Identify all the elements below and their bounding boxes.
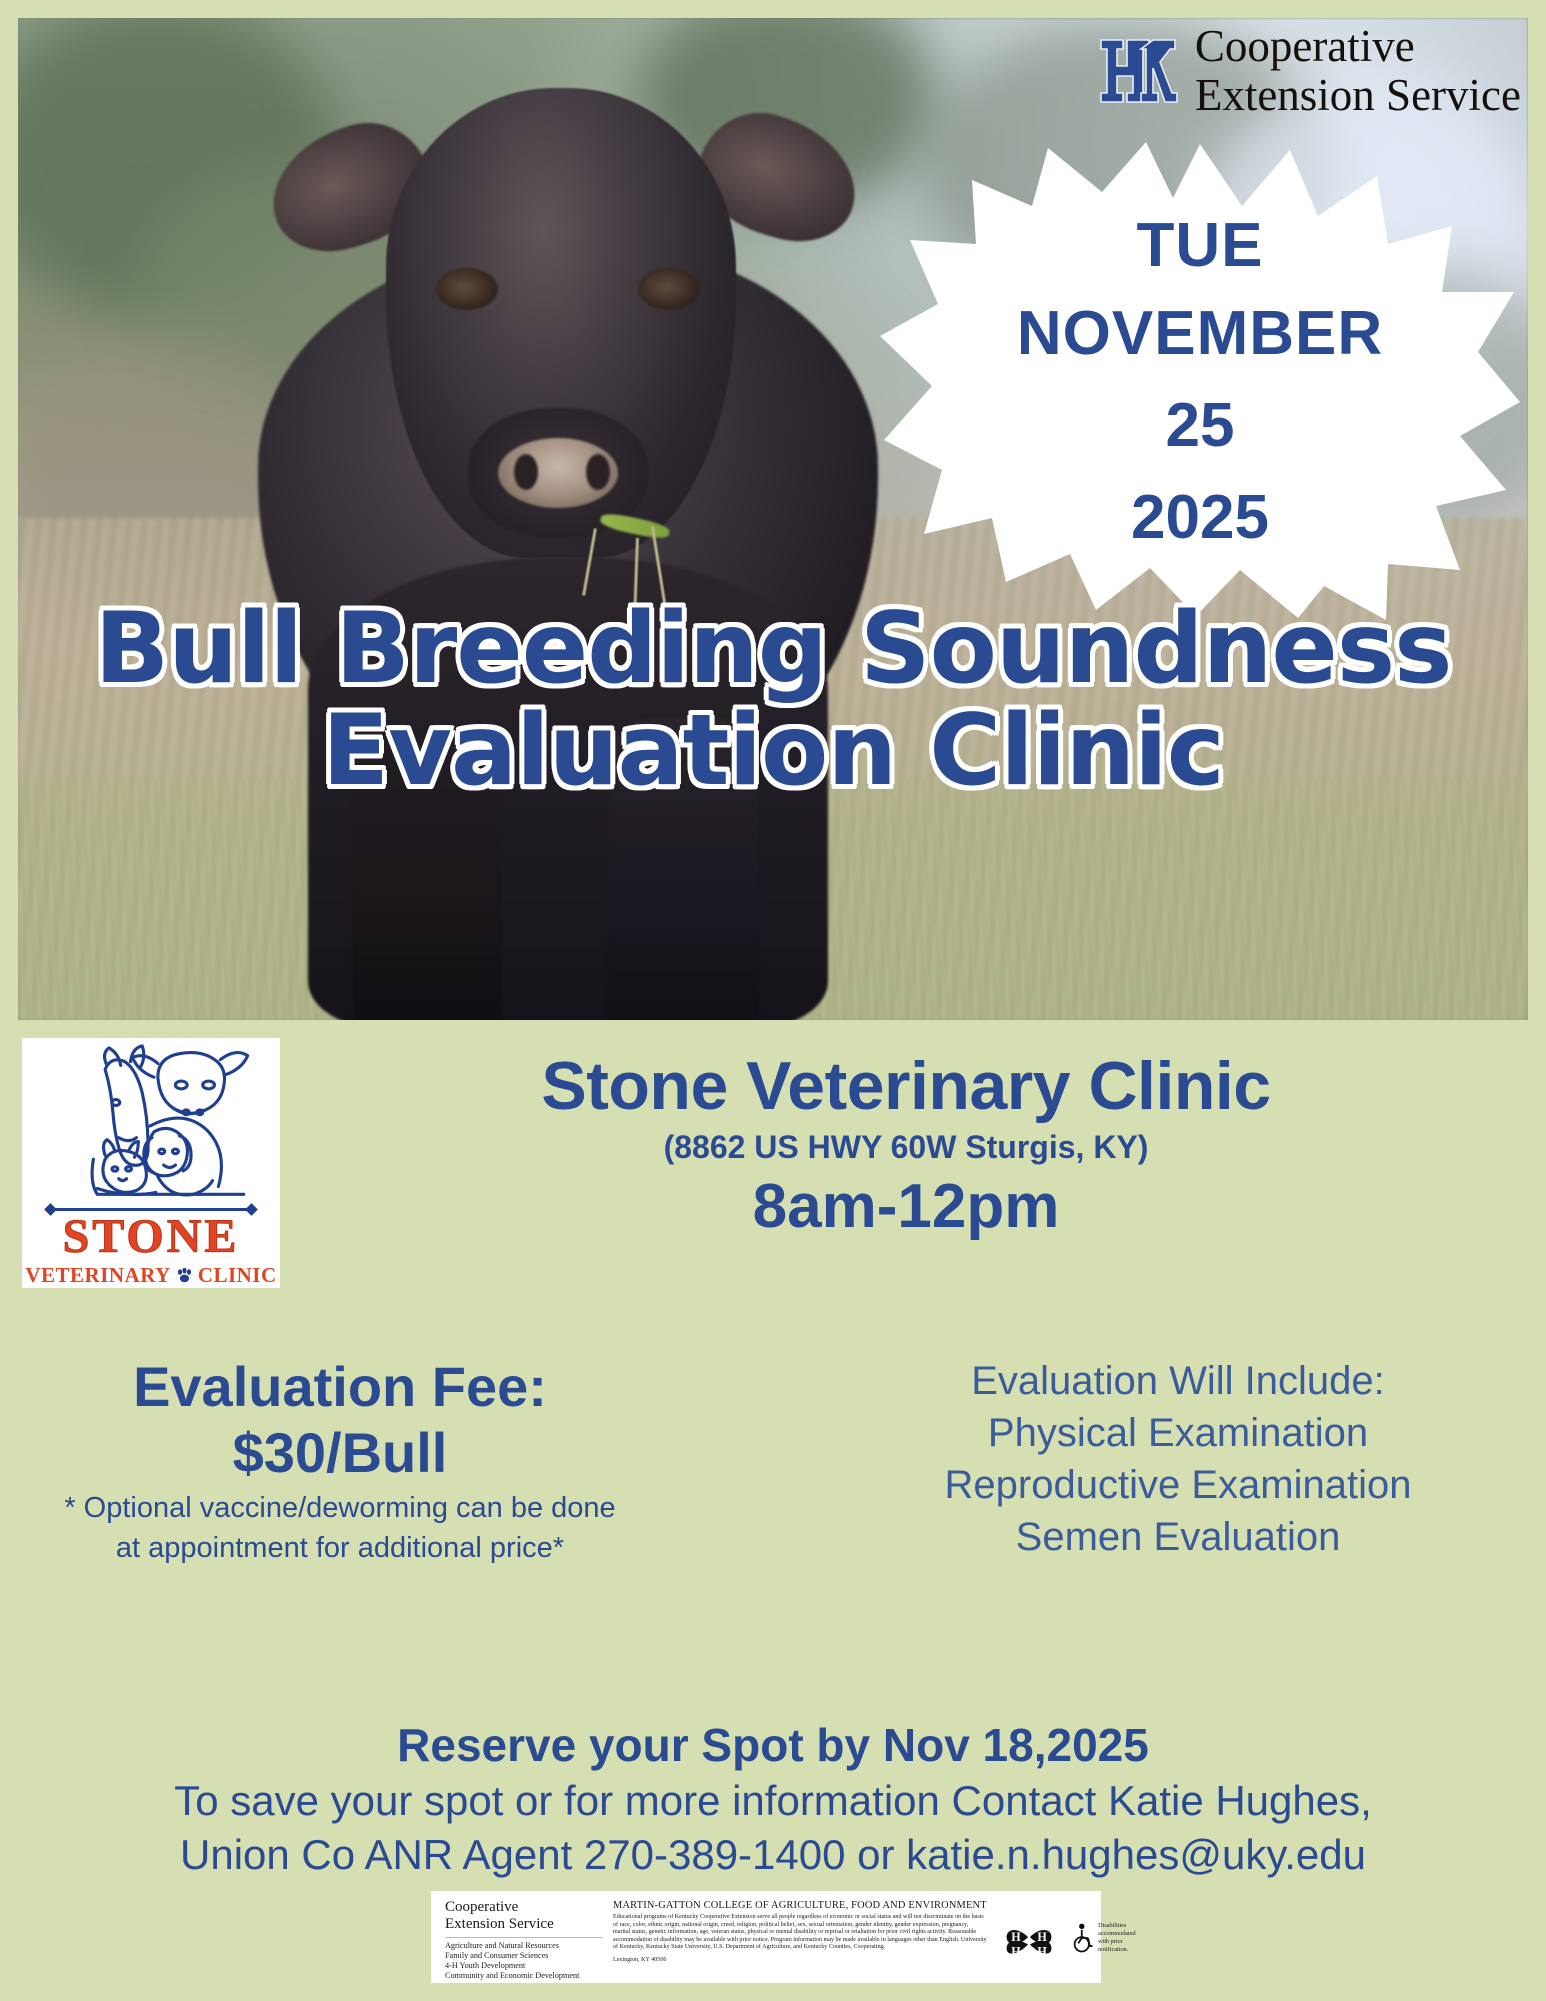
uk-logo-wordmark: Cooperative Extension Service [1195, 22, 1521, 120]
svg-text:H: H [1011, 1930, 1021, 1944]
fee-note-line2: at appointment for additional price* [10, 1529, 670, 1567]
reserve-heading: Reserve your Spot by Nov 18,2025 [0, 1716, 1546, 1774]
clinic-address: (8862 US HWY 60W Sturgis, KY) [290, 1124, 1522, 1170]
date-badge-text: TUE NOVEMBER 25 2025 [880, 140, 1520, 620]
stone-veterinary-clinic-logo: STONE VETERINARY CLINIC [22, 1038, 280, 1288]
bull-left-nostril [514, 454, 538, 490]
four-h-clover-icon: HH HH [1001, 1910, 1057, 1966]
clinic-info-block: Stone Veterinary Clinic (8862 US HWY 60W… [290, 1048, 1522, 1244]
logo-divider-rule [48, 1208, 254, 1211]
uk-logo-line2: Extension Service [1195, 71, 1521, 120]
evaluation-fee-block: Evaluation Fee: $30/Bull * Optional vacc… [10, 1355, 670, 1567]
svg-text:H: H [1037, 1930, 1047, 1944]
stone-wordmark: STONE [63, 1213, 240, 1261]
footer-coop-line2: Extension Service [445, 1916, 603, 1933]
page-title-line2: Evaluation Clinic [0, 700, 1546, 802]
contact-line2: Union Co ANR Agent 270-389-1400 or katie… [0, 1828, 1546, 1882]
footer-nondiscrimination-text: Educational programs of Kentucky Coopera… [613, 1914, 987, 1952]
footer-divider [445, 1937, 603, 1938]
footer-program-areas: Agriculture and Natural Resources Family… [445, 1941, 603, 1981]
svg-text:H: H [1037, 1945, 1047, 1959]
uk-logo-line1: Cooperative [1195, 22, 1521, 71]
fee-note-line1: * Optional vaccine/deworming can be done [10, 1489, 670, 1527]
footer-4h-logo: HH HH [997, 1899, 1061, 1977]
clinic-time: 8am-12pm [290, 1170, 1522, 1244]
footer-extension-identity: Cooperative Extension Service Agricultur… [445, 1899, 603, 1977]
contact-line1: To save your spot or for more informatio… [0, 1774, 1546, 1828]
includes-item-1: Reproductive Examination [828, 1459, 1528, 1511]
page-title: Bull Breeding Soundness Evaluation Clini… [0, 598, 1546, 802]
date-month: NOVEMBER [1017, 288, 1383, 380]
includes-item-0: Physical Examination [828, 1407, 1528, 1459]
clinic-name: Stone Veterinary Clinic [290, 1048, 1522, 1124]
wheelchair-accessibility-icon [1071, 1922, 1094, 1954]
black-bull-photo-subject [138, 18, 978, 1018]
stone-subline-left: VETERINARY [25, 1263, 170, 1288]
date-day-of-week: TUE [1137, 204, 1264, 288]
date-year: 2025 [1131, 472, 1269, 564]
accessibility-note: Disabilities accommodated with prior not… [1098, 1922, 1153, 1954]
extension-footer-banner: Cooperative Extension Service Agricultur… [431, 1891, 1101, 1983]
fee-heading: Evaluation Fee: [10, 1355, 670, 1419]
footer-city: Lexington, KY 40506 [613, 1956, 987, 1964]
horse-cow-dog-cat-illustration-icon [46, 1042, 256, 1206]
stone-logo-subline: VETERINARY CLINIC [25, 1263, 276, 1288]
footer-accessibility: Disabilities accommodated with prior not… [1071, 1899, 1153, 1977]
footer-college-heading: MARTIN-GATTON COLLEGE OF AGRICULTURE, FO… [613, 1899, 987, 1912]
fee-amount: $30/Bull [10, 1419, 670, 1487]
evaluation-includes-block: Evaluation Will Include: Physical Examin… [828, 1355, 1528, 1563]
date-starburst-badge: TUE NOVEMBER 25 2025 [880, 140, 1520, 620]
paw-print-icon [176, 1268, 193, 1283]
stone-subline-right: CLINIC [198, 1263, 277, 1288]
uk-cooperative-extension-logo: Cooperative Extension Service [1097, 22, 1521, 120]
page-title-line1: Bull Breeding Soundness [0, 598, 1546, 700]
bull-right-nostril [586, 454, 610, 490]
date-day-number: 25 [1166, 380, 1235, 472]
reserve-contact-block: Reserve your Spot by Nov 18,2025 To save… [0, 1716, 1546, 1882]
bull-left-eye [436, 268, 498, 310]
footer-legal-column: MARTIN-GATTON COLLEGE OF AGRICULTURE, FO… [613, 1899, 987, 1977]
uk-wildcat-logo-icon [1097, 32, 1181, 110]
bull-right-eye [638, 268, 700, 310]
includes-heading: Evaluation Will Include: [828, 1355, 1528, 1407]
svg-text:H: H [1011, 1945, 1021, 1959]
footer-coop-line1: Cooperative [445, 1899, 603, 1916]
includes-item-2: Semen Evaluation [828, 1511, 1528, 1563]
